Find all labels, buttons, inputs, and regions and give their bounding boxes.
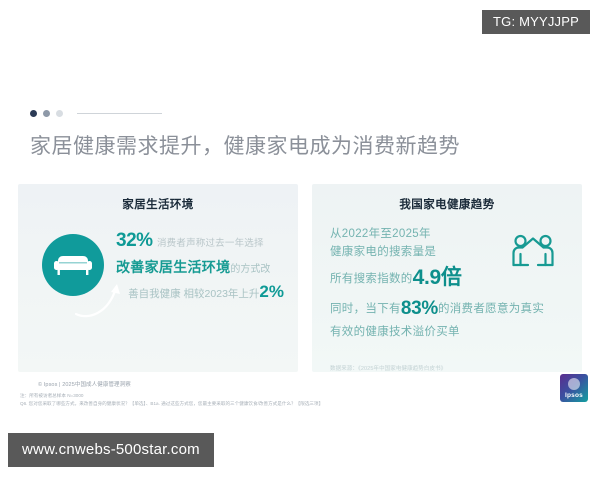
left-stat-32: 32% [116,230,153,251]
two-people-house-icon [510,234,556,268]
left-highlight-phrase: 改善家居生活环境 [116,259,230,275]
source-url-chip: www.cnwebs-500star.com [8,433,214,467]
slide-canvas: 家居健康需求提升，健康家电成为消费新趋势 家居生活环境 [0,62,600,414]
left-card-body: 32% 消费者声称过去一年选择 改善家居生活环境的方式改 善自我健康 相较202… [18,212,298,364]
left-line-2-tail: 的方式改 [230,264,270,275]
right-line-4: 同时，当下有83%的消费者愿意为真实 [330,294,582,323]
left-card-text: 32% 消费者声称过去一年选择 改善家居生活环境的方式改 善自我健康 相较202… [116,228,288,307]
ipsos-logo-wordmark: Ipsos [565,392,583,402]
fineprint-block: 注：所有被访者总样本 N=3000 Q6. 您对您采取了哪些方式，来改善自身的健… [20,392,323,408]
sofa-icon [42,234,104,296]
fineprint-line-2: Q6. 您对您采取了哪些方式，来改善自身的健康状况？【单选】、B1a. 通过这些… [20,400,323,408]
right-line-4-prefix: 同时，当下有 [330,303,401,315]
right-stat-83pct: 83% [401,298,438,319]
right-card-body: 从2022年至2025年 健康家电的搜索量是 所有搜索指数的4.9倍 同时，当下… [312,212,582,372]
right-line-4-suffix: 的消费者愿意为真实 [438,303,544,315]
left-card-title: 家居生活环境 [18,184,298,212]
card-appliance-health-trend: 我国家电健康趋势 从2022年至2025年 健康家电的搜索量是 所有搜索指数的4… [312,184,582,372]
right-card-source: 数据来源：《2025年中国家电健康趋势白皮书》 [330,364,446,372]
cards-row: 家居生活环境 [18,184,582,372]
pager-dot-3[interactable] [56,110,63,117]
right-line-3-prefix: 所有搜索指数的 [330,273,413,285]
slide-pager[interactable] [30,110,162,117]
page-title: 家居健康需求提升，健康家电成为消费新趋势 [30,134,460,160]
left-line-2: 改善家居生活环境的方式改 [116,257,288,279]
pager-dot-2[interactable] [43,110,50,117]
right-stat-4point9x: 4.9倍 [413,266,462,289]
left-line-1: 32% 消费者声称过去一年选择 [116,228,288,254]
right-card-title: 我国家电健康趋势 [312,184,582,212]
left-line-3: 善自我健康 相较2023年上升2% [116,281,288,304]
fineprint-line-1: 注：所有被访者总样本 N=3000 [20,392,323,400]
card-home-living-environment: 家居生活环境 [18,184,298,372]
telegram-tag-chip: TG: MYYJJPP [482,10,590,34]
pager-rule [77,113,162,114]
copyright-text: © Ipsos | 2025中国成人健康管理洞察 [38,380,131,388]
ipsos-logo: Ipsos [560,374,588,402]
left-stat-32-note: 消费者声称过去一年选择 [157,238,264,249]
pager-dot-1[interactable] [30,110,37,117]
left-line-3-text: 善自我健康 相较2023年上升 [128,288,259,300]
right-line-5: 有效的健康技术溢价买单 [330,324,582,342]
ipsos-logo-mark [568,378,580,390]
left-stat-2pct: 2% [259,282,284,301]
